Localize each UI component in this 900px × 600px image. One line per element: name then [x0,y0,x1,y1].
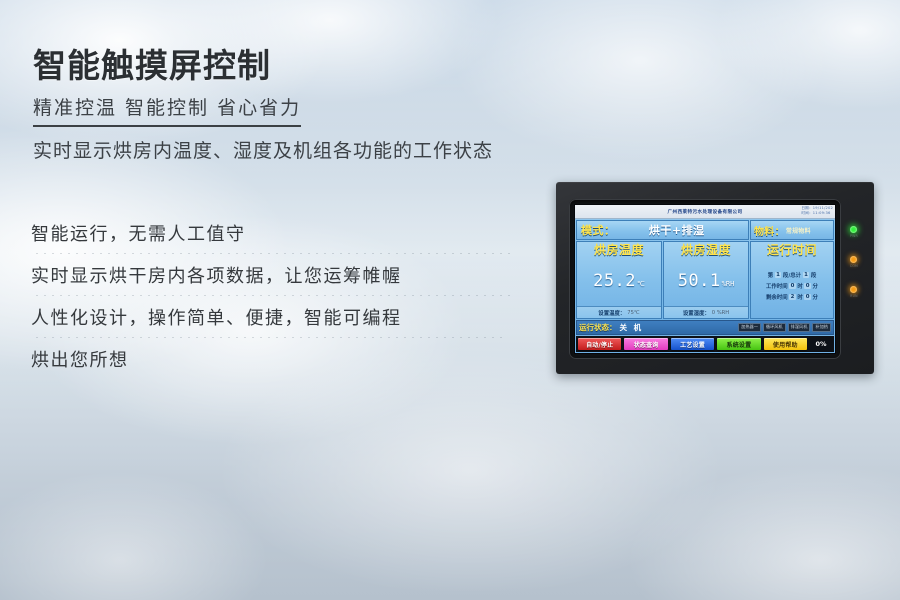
runtime-worked-num-b: 0 [804,283,811,289]
temperature-setpoint[interactable]: 设置温度： 75℃ [577,306,661,318]
company-name: 广州西莱特污水处理设备有限公司 [668,209,743,215]
led-indicator-strip: PWR COM RUN [850,226,858,298]
clock-block: 日期：19/11/202 时间：11:09:36 [801,206,833,216]
hmi-title-bar: 广州西莱特污水处理设备有限公司 日期：19/11/202 时间：11:09:36 [575,205,835,219]
runtime-title: 运行时间 [751,244,833,257]
runtime-remaining-label-b: 时 [797,293,802,301]
humidity-setpoint[interactable]: 设置湿度： 0 %RH [664,306,748,318]
feature-list: 智能运行，无需人工值守 实时显示烘干房内各项数据，让您运筹帷幄 人性化设计，操作… [31,222,531,379]
run-led-label: RUN [850,294,858,298]
clock-time-value: 11:09:36 [813,211,831,215]
feature-divider-2 [33,295,513,296]
feature-item-2: 实时显示烘干房内各项数据，让您运筹帷幄 [31,264,531,295]
feature-divider-3 [33,337,503,338]
hmi-touch-panel-device: 广州西莱特污水处理设备有限公司 日期：19/11/202 时间：11:09:36 [556,182,874,374]
mode-cell[interactable]: 模式： 烘干+排湿 [576,220,749,240]
runtime-stage-label-b: 段/总计 [783,271,801,279]
poster-canvas: 智能触摸屏控制 精准控温 智能控制 省心省力 实时显示烘房内温度、湿度及机组各功… [0,0,900,600]
temperature-title: 烘房温度 [577,244,661,257]
humidity-title: 烘房湿度 [664,244,748,257]
headline-block: 智能触摸屏控制 精准控温 智能控制 省心省力 实时显示烘房内温度、湿度及机组各功… [33,48,493,163]
feature-item-4: 烘出您所想 [31,348,531,379]
humidity-value: 50.1 [678,271,721,291]
headline-description: 实时显示烘房内温度、湿度及机组各功能的工作状态 [33,136,493,163]
material-cell[interactable]: 物料： 常规物料 [750,220,834,240]
help-button[interactable]: 使用帮助 [764,338,807,350]
runtime-remaining-label-a: 剩余时间 [766,293,788,301]
clock-time: 时间：11:09:36 [801,211,833,216]
humidity-panel[interactable]: 烘房湿度 50.1%RH 设置湿度： 0 %RH [663,241,749,319]
humidity-set-value: 0 %RH [712,310,729,316]
hmi-screen-bezel: 广州西莱特污水处理设备有限公司 日期：19/11/202 时间：11:09:36 [569,199,841,359]
status-query-button[interactable]: 状态查询 [624,338,667,350]
clock-time-label: 时间： [801,211,812,215]
comm-led-wrap: COM [850,256,858,268]
power-led [850,226,857,233]
runtime-worked-num-a: 0 [789,283,796,289]
progress-percent: 0% [810,340,832,348]
comm-led-label: COM [850,264,858,268]
indicator-circulation-fan[interactable]: 循环风机 [763,323,786,331]
run-led [850,286,857,293]
temperature-readout: 25.2℃ [577,257,661,306]
runtime-row-stage: 第 1 段/总计 1 段 [753,271,831,279]
runtime-remaining-num-b: 0 [804,294,811,300]
power-led-wrap: PWR [850,226,858,238]
indicator-dehumid-fan[interactable]: 排湿风机 [788,323,811,331]
headline-subtitle: 精准控温 智能控制 省心省力 [33,93,301,127]
temperature-set-value: 75℃ [627,310,639,316]
indicator-aux-heater[interactable]: 补加热 [812,323,831,331]
material-label: 物料： [754,223,785,238]
indicator-heater-1[interactable]: 加热器一 [738,323,761,331]
material-value: 常规物料 [786,226,811,235]
runtime-row-remaining: 剩余时间 2 时 0 分 [753,293,831,301]
runtime-stage-label-c: 段 [811,271,816,279]
clock-date-value: 19/11/202 [813,206,833,210]
system-settings-button[interactable]: 系统设置 [717,338,760,350]
comm-led [850,256,857,263]
runtime-remaining-num-a: 2 [789,294,796,300]
readout-row: 烘房温度 25.2℃ 设置温度： 75℃ 烘房湿度 [576,241,834,319]
runtime-worked-label-c: 分 [813,282,818,290]
runtime-stage-num-a: 1 [775,272,782,278]
runtime-remaining-label-c: 分 [813,293,818,301]
auto-stop-button[interactable]: 自动/停止 [578,338,621,350]
runtime-stage-label-a: 第 [768,271,773,279]
humidity-unit: %RH [722,275,735,288]
status-label: 运行状态： [579,322,617,333]
temperature-set-label: 设置温度： [598,309,625,317]
temperature-panel[interactable]: 烘房温度 25.2℃ 设置温度： 75℃ [576,241,662,319]
temperature-value: 25.2 [593,271,636,291]
hmi-button-bar: 自动/停止 状态查询 工艺设置 系统设置 使用帮助 0% [576,336,834,352]
mode-value: 烘干+排湿 [616,222,749,238]
power-led-label: PWR [850,234,858,238]
hmi-lcd-screen[interactable]: 广州西莱特污水处理设备有限公司 日期：19/11/202 时间：11:09:36 [575,205,835,353]
page-title: 智能触摸屏控制 [33,48,493,84]
mode-material-row: 模式： 烘干+排湿 物料： 常规物料 [576,220,834,240]
run-led-wrap: RUN [850,286,858,298]
process-settings-button[interactable]: 工艺设置 [671,338,714,350]
runtime-worked-label-a: 工作时间 [766,282,788,290]
feature-divider-1 [33,253,513,254]
runtime-worked-label-b: 时 [797,282,802,290]
runtime-rows: 第 1 段/总计 1 段 工作时间 0 时 [751,257,833,318]
runtime-stage-num-b: 1 [803,272,810,278]
mode-label: 模式： [577,222,616,238]
feature-item-1: 智能运行，无需人工值守 [31,222,531,253]
clock-date-label: 日期： [801,206,812,210]
hmi-content-area: 模式： 烘干+排湿 物料： 常规物料 烘房温度 25 [575,219,835,353]
feature-item-3: 人性化设计，操作简单、便捷，智能可编程 [31,306,531,337]
runtime-row-worked: 工作时间 0 时 0 分 [753,282,831,290]
status-row: 运行状态： 关 机 加热器一 循环风机 排湿风机 补加热 [576,320,834,335]
humidity-set-label: 设置湿度： [683,309,710,317]
runtime-panel[interactable]: 运行时间 第 1 段/总计 1 段 工作时间 [750,241,834,319]
temperature-unit: ℃ [637,275,645,288]
status-badge: 关 机 [620,322,644,333]
humidity-readout: 50.1%RH [664,257,748,306]
equipment-indicator-group: 加热器一 循环风机 排湿风机 补加热 [738,323,831,331]
